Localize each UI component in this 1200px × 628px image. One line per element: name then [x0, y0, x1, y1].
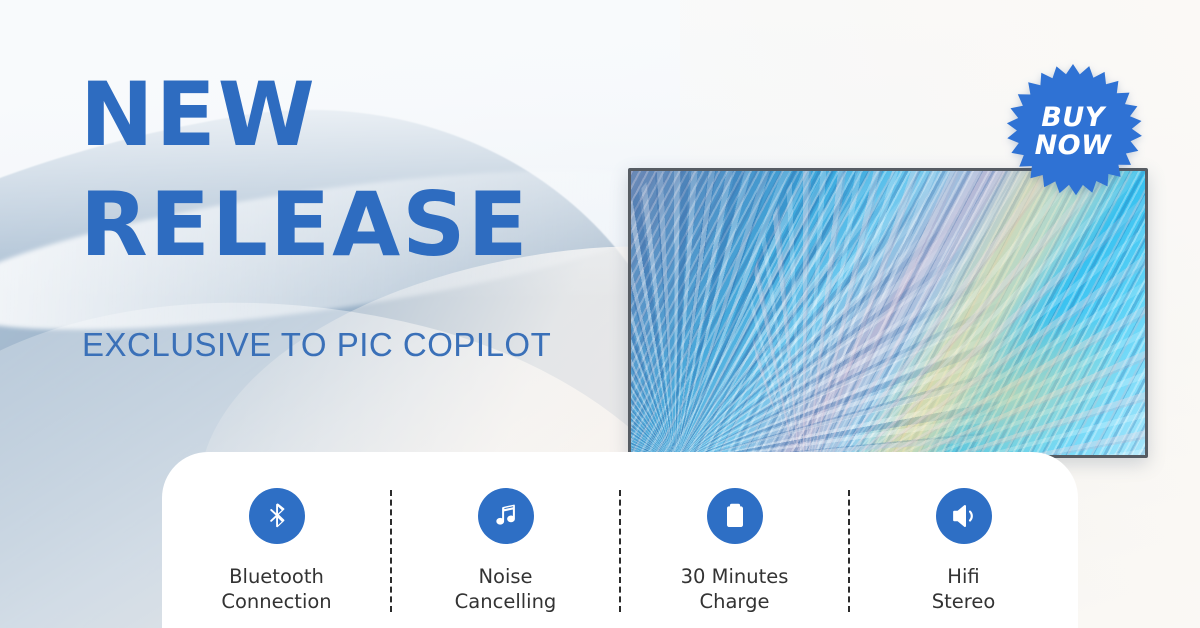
badge-line-2: NOW	[1035, 132, 1112, 160]
badge-line-1: BUY	[1041, 104, 1105, 132]
bluetooth-icon	[249, 488, 305, 544]
headline-line-1: NEW	[80, 72, 530, 158]
feature-card: Bluetooth Connection Noise Cancelling	[162, 452, 1078, 628]
tv-screen-art	[631, 171, 1145, 455]
feature-item-charge[interactable]: 30 Minutes Charge	[620, 488, 849, 615]
feature-label: Hifi Stereo	[932, 564, 996, 615]
music-note-icon	[478, 488, 534, 544]
feature-label: Noise Cancelling	[455, 564, 557, 615]
television-display	[628, 168, 1148, 458]
feature-list: Bluetooth Connection Noise Cancelling	[162, 452, 1078, 628]
feature-item-noise-cancelling[interactable]: Noise Cancelling	[391, 488, 620, 615]
speaker-volume-icon	[936, 488, 992, 544]
battery-charging-icon	[707, 488, 763, 544]
page-title: NEW RELEASE	[80, 72, 530, 268]
feature-label: 30 Minutes Charge	[681, 564, 789, 615]
feature-label: Bluetooth Connection	[221, 564, 331, 615]
headline-line-2: RELEASE	[80, 182, 530, 268]
subtitle: EXCLUSIVE TO PIC COPILOT	[82, 326, 551, 364]
buy-now-badge[interactable]: BUY NOW	[1003, 62, 1143, 202]
feature-item-bluetooth[interactable]: Bluetooth Connection	[162, 488, 391, 615]
promo-banner: NEW RELEASE EXCLUSIVE TO PIC COPILOT BUY…	[0, 0, 1200, 628]
feature-item-hifi-stereo[interactable]: Hifi Stereo	[849, 488, 1078, 615]
badge-text: BUY NOW	[1003, 62, 1143, 202]
